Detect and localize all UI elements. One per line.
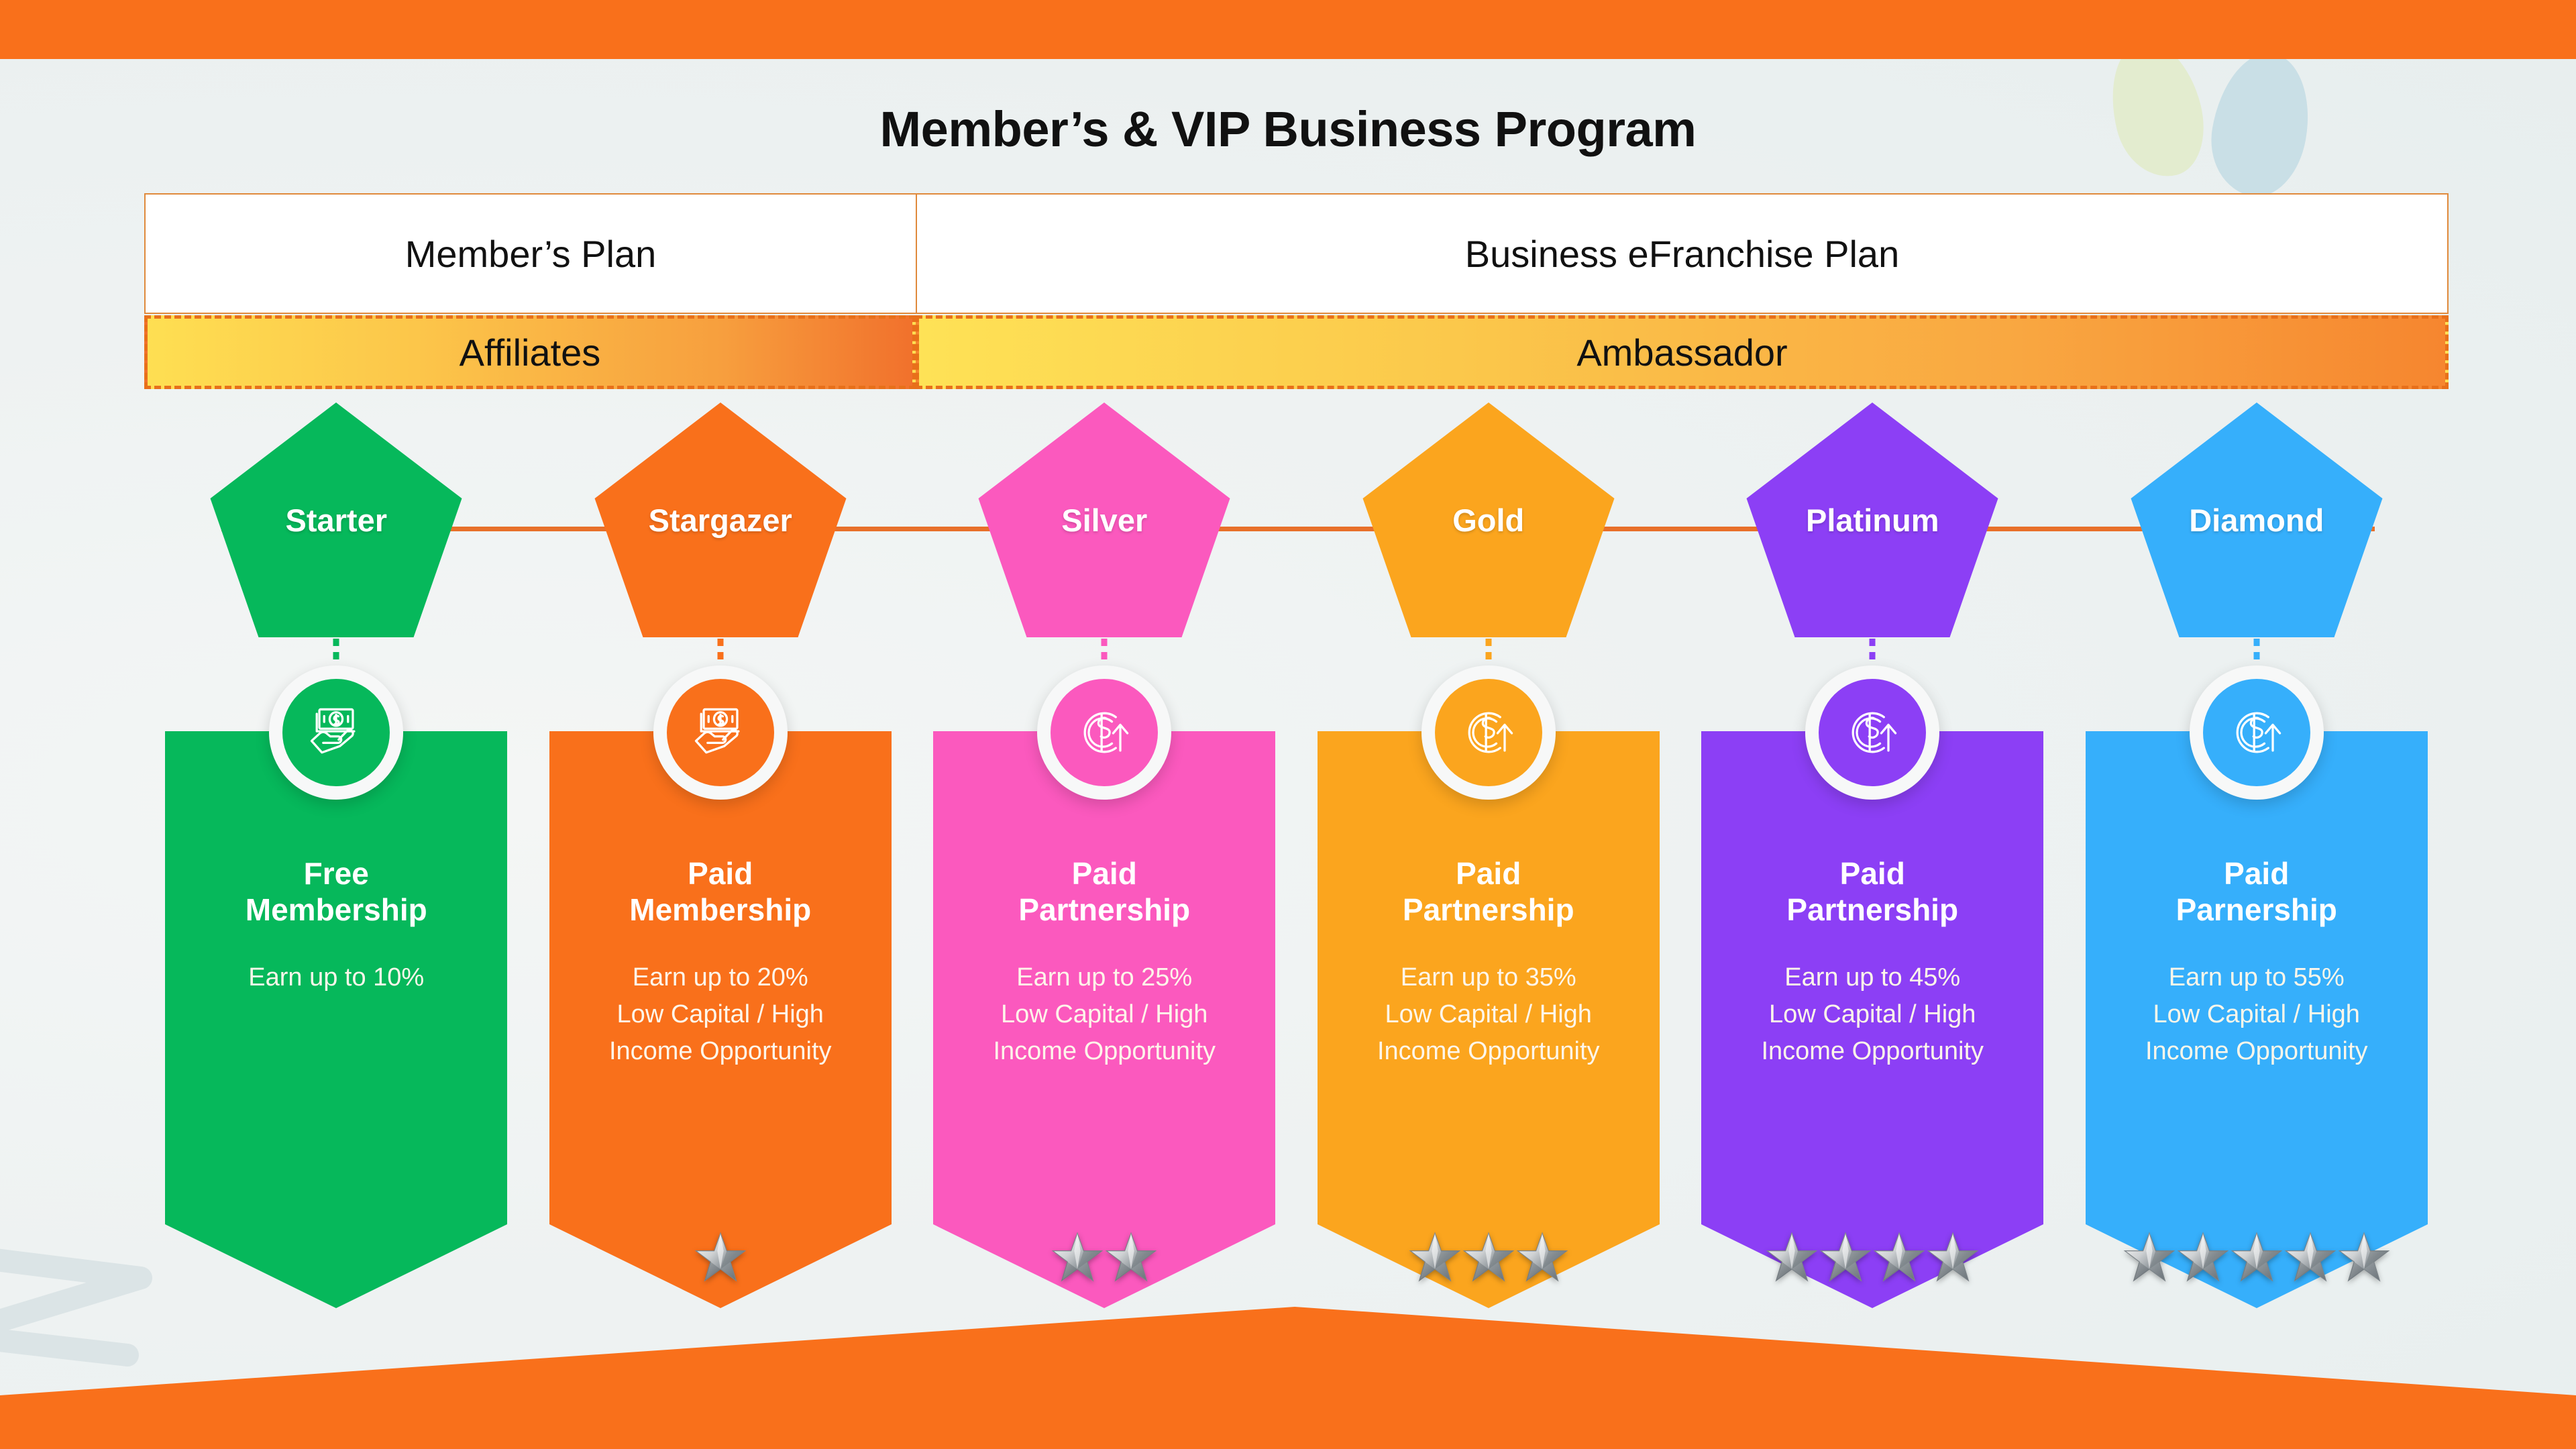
tier-name-label: Platinum (1747, 402, 1998, 637)
plan-cell-members: Member’s Plan (146, 195, 917, 313)
tier-column[interactable]: Gold Paid Partnership Earn up to 35% Low… (1311, 402, 1666, 1355)
top-accent-bar (0, 0, 2576, 59)
tier-icon-badge[interactable] (2190, 665, 2324, 800)
tier-stem-dots (717, 639, 723, 667)
tier-column[interactable]: Stargazer Paid Membership Earn up to 20%… (543, 402, 898, 1355)
star-icon (1927, 1231, 1979, 1283)
tier-name-label: Stargazer (594, 402, 846, 637)
bottom-accent-band (0, 1295, 2576, 1449)
tier-stem-dots (1485, 639, 1491, 667)
star-icon (2284, 1231, 2337, 1283)
star-icon (1516, 1231, 1568, 1283)
tier-pentagon[interactable]: Diamond (2131, 402, 2382, 637)
card-heading: Paid Parnership (2176, 855, 2337, 928)
hand-cash-icon (282, 679, 390, 786)
infographic-canvas: Member’s & VIP Business Program Member’s… (0, 0, 2576, 1449)
tier-star-rating (549, 1231, 892, 1283)
tier-bar-row: Affiliates Ambassador (144, 315, 2449, 389)
tier-pentagon[interactable]: Stargazer (594, 402, 846, 637)
dollar-growth-icon (1819, 679, 1926, 786)
tier-card[interactable]: Paid Partnership Earn up to 35% Low Capi… (1318, 731, 1660, 1308)
tier-pentagon[interactable]: Starter (211, 402, 462, 637)
tier-stem-dots (2253, 639, 2259, 667)
plan-cell-efranchise: Business eFranchise Plan (917, 195, 2447, 313)
tier-column[interactable]: Silver Paid Partnership Earn up to 25% L… (926, 402, 1282, 1355)
tier-icon-badge[interactable] (653, 665, 788, 800)
card-heading: Paid Partnership (1403, 855, 1574, 928)
tier-stem-dots (333, 639, 339, 667)
card-heading: Paid Partnership (1786, 855, 1958, 928)
star-icon (1819, 1231, 1872, 1283)
tier-bar-affiliates: Affiliates (144, 315, 916, 389)
card-heading: Paid Partnership (1018, 855, 1190, 928)
tier-icon-badge[interactable] (1421, 665, 1556, 800)
plan-table: Member’s Plan Business eFranchise Plan (144, 193, 2449, 314)
card-body: Earn up to 10% (248, 959, 424, 996)
star-icon (1051, 1231, 1104, 1283)
tier-icon-badge[interactable] (1037, 665, 1171, 800)
star-icon (1409, 1231, 1461, 1283)
star-icon (1462, 1231, 1515, 1283)
tier-pentagon[interactable]: Platinum (1747, 402, 1998, 637)
tier-star-rating (2086, 1231, 2428, 1283)
star-icon (1873, 1231, 1925, 1283)
tier-column[interactable]: Platinum Paid Partnership Earn up to 45%… (1695, 402, 2050, 1355)
star-icon (2338, 1231, 2390, 1283)
tier-star-rating (933, 1231, 1275, 1283)
tier-name-label: Silver (979, 402, 1230, 637)
tier-star-rating (1318, 1231, 1660, 1283)
card-body: Earn up to 25% Low Capital / High Income… (993, 959, 1216, 1070)
dollar-growth-icon (1435, 679, 1542, 786)
card-body: Earn up to 35% Low Capital / High Income… (1377, 959, 1600, 1070)
tier-columns: Starter Free Membership Earn up to 10% (144, 402, 2449, 1355)
tier-star-rating (1701, 1231, 2043, 1283)
tier-column[interactable]: Starter Free Membership Earn up to 10% (158, 402, 514, 1355)
card-heading: Free Membership (246, 855, 427, 928)
tier-card[interactable]: Paid Partnership Earn up to 25% Low Capi… (933, 731, 1275, 1308)
star-icon (1766, 1231, 1818, 1283)
star-icon (1105, 1231, 1157, 1283)
card-body: Earn up to 20% Low Capital / High Income… (609, 959, 832, 1070)
star-icon (694, 1231, 747, 1283)
tier-name-label: Gold (1362, 402, 1614, 637)
tier-pentagon[interactable]: Gold (1362, 402, 1614, 637)
tier-name-label: Starter (211, 402, 462, 637)
star-icon (2177, 1231, 2229, 1283)
tier-column[interactable]: Diamond Paid Parnership Earn up to 55% L… (2079, 402, 2434, 1355)
tier-icon-badge[interactable] (1805, 665, 1939, 800)
card-heading: Paid Membership (629, 855, 811, 928)
tier-stem-dots (1102, 639, 1108, 667)
dollar-growth-icon (1051, 679, 1158, 786)
tier-pentagon[interactable]: Silver (979, 402, 1230, 637)
tier-icon-badge[interactable] (269, 665, 403, 800)
tier-name-label: Diamond (2131, 402, 2382, 637)
tier-stem-dots (1870, 639, 1876, 667)
star-icon (2231, 1231, 2283, 1283)
star-icon (2123, 1231, 2176, 1283)
dollar-growth-icon (2203, 679, 2310, 786)
tier-card[interactable]: Paid Partnership Earn up to 45% Low Capi… (1701, 731, 2043, 1308)
hand-cash-icon (667, 679, 774, 786)
tier-card[interactable]: Paid Membership Earn up to 20% Low Capit… (549, 731, 892, 1308)
card-body: Earn up to 45% Low Capital / High Income… (1761, 959, 1984, 1070)
card-body: Earn up to 55% Low Capital / High Income… (2145, 959, 2368, 1070)
tier-bar-ambassador: Ambassador (916, 315, 2449, 389)
page-title: Member’s & VIP Business Program (0, 101, 2576, 158)
tier-card[interactable]: Paid Parnership Earn up to 55% Low Capit… (2086, 731, 2428, 1308)
tier-card[interactable]: Free Membership Earn up to 10% (165, 731, 507, 1308)
